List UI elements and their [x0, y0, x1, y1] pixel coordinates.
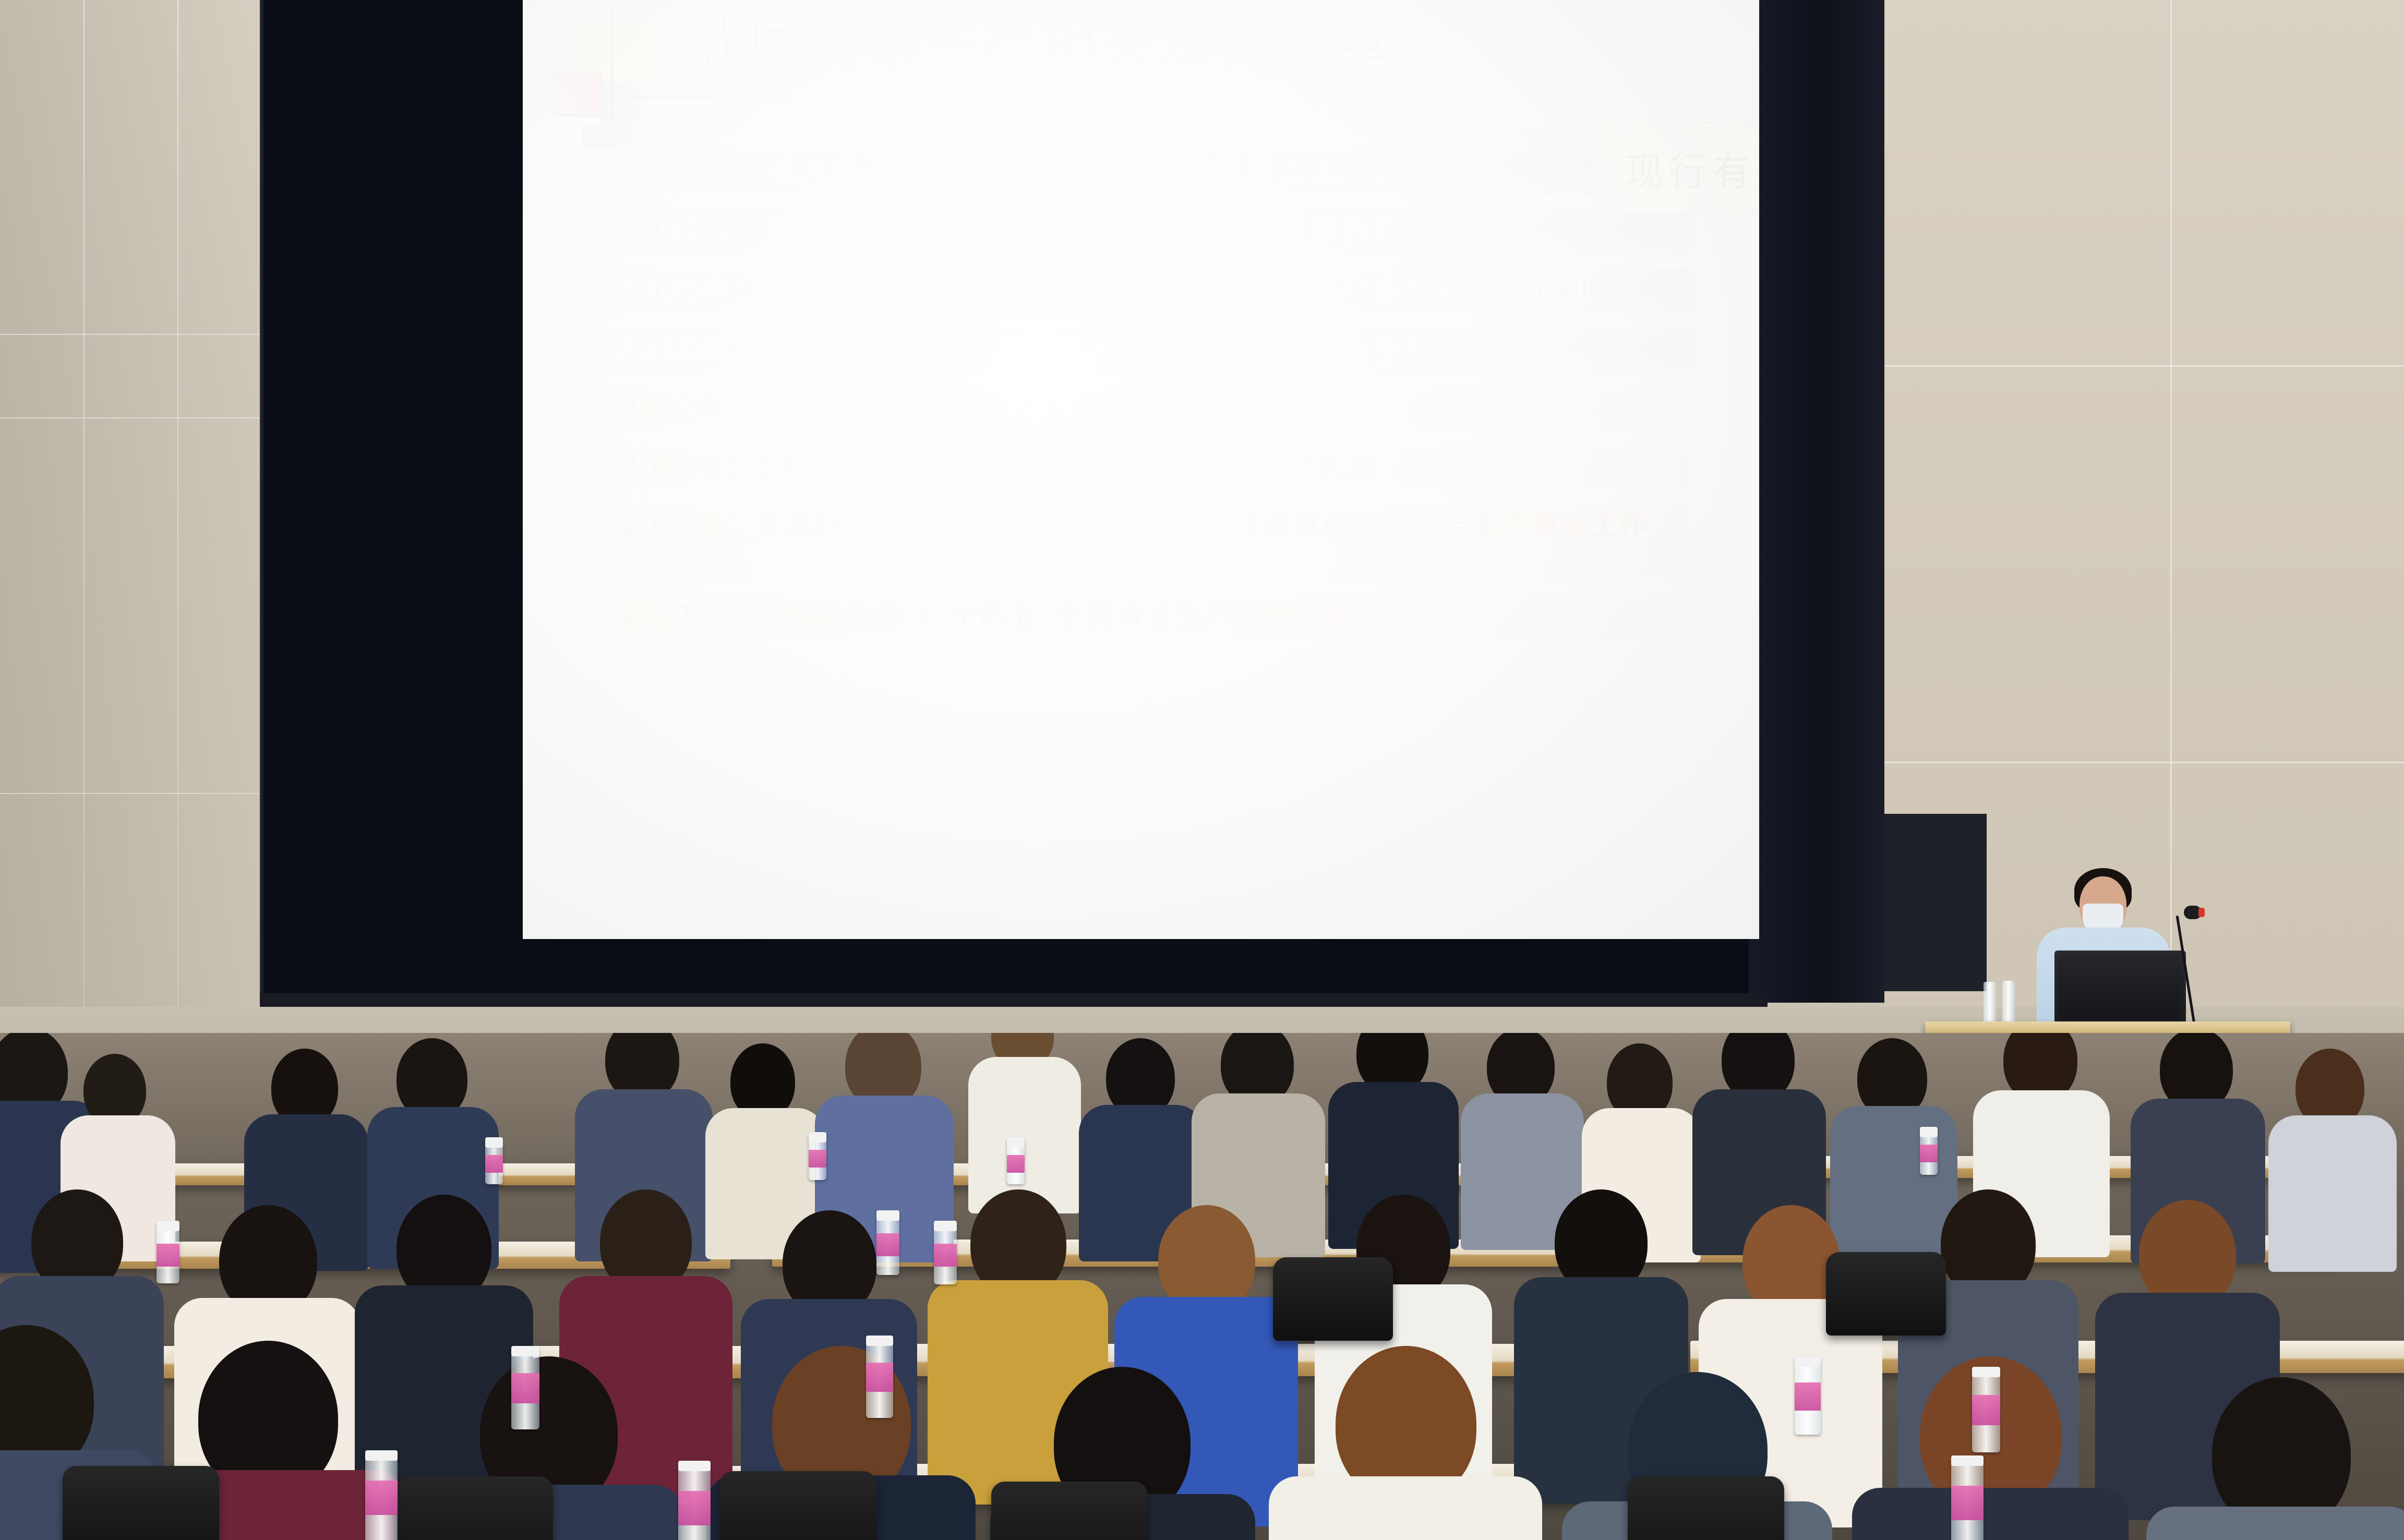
chair	[1273, 1257, 1393, 1341]
wall-grout-line	[1878, 762, 2404, 763]
bottle-cap	[1972, 1367, 2000, 1377]
water-bottle	[866, 1336, 893, 1418]
deco-line-vertical	[611, 9, 612, 150]
presenter-laptop	[2054, 951, 2186, 1021]
bottle-label	[876, 1233, 899, 1256]
bottle-cap	[876, 1210, 899, 1221]
timeline-item: 2005年：原国家环保局《关于印发重点企业清洁生产审核程序的通知》	[596, 267, 1697, 315]
bottle-label	[511, 1373, 539, 1403]
bottle-cap	[1951, 1455, 1984, 1466]
status-badge-label: 现行有效	[1625, 141, 1759, 197]
wall-grout-line	[177, 0, 178, 1064]
water-bottle	[511, 1346, 539, 1429]
wall-shadow-left	[0, 0, 271, 1064]
bottle-label	[1920, 1145, 1938, 1162]
audience-body	[1269, 1476, 1542, 1540]
timeline-item-text: 2004年：国家发改委、原国家环保局《清洁生产审核暂行办法》	[614, 215, 1530, 247]
water-bottle	[1984, 982, 1996, 1025]
timeline-item: 2020年：生态环境部、国家发改委《关于深入推进重点行业清洁生产审核工作的通知》	[603, 501, 1691, 583]
bottle-label	[809, 1150, 826, 1168]
water-bottle	[678, 1461, 711, 1540]
bottle-label	[1972, 1395, 2000, 1425]
chair	[1826, 1252, 1946, 1336]
microphone-accent	[2198, 908, 2205, 917]
chair	[720, 1471, 876, 1540]
water-bottle	[809, 1132, 826, 1180]
bottle-label	[1795, 1382, 1821, 1411]
bottle-cap	[1795, 1356, 1821, 1367]
water-bottle	[876, 1210, 899, 1275]
deco-line-horizontal	[560, 115, 665, 116]
status-badge-current-effective: 现行有效	[1592, 122, 1759, 215]
timeline-item-text: 2010年：原国家环保部《关于深入推进重点企业清洁生产的通知》	[614, 334, 1562, 366]
audience-body	[2268, 1115, 2397, 1272]
bottle-label	[934, 1244, 957, 1267]
bottle-cap	[157, 1221, 179, 1231]
timeline-item-text: 2016年：《清洁生产审核办法》，2016年7月1日正式实施	[620, 450, 1376, 485]
audience-body	[1830, 1106, 1957, 1266]
timeline-item: 2021年：国家发改委《“十四五”全国清洁生产推行方案》	[603, 593, 1691, 641]
chair	[991, 1482, 1148, 1540]
timeline-item-text: 2020年：生态环境部、国家发改委《关于深入推进重点行业清洁生产审核工作的通知》	[620, 509, 1648, 578]
bottle-label	[1951, 1486, 1984, 1520]
slide-deco-logo-icon	[550, 9, 665, 166]
wall-grout-line	[1878, 365, 2404, 367]
bottle-label	[1007, 1155, 1025, 1173]
timeline-item-text: 2005年：原国家环保局《关于印发重点企业清洁生产审核程序的通知》	[614, 275, 1626, 306]
bottle-cap	[934, 1221, 957, 1231]
deco-square-purple-small	[582, 125, 611, 149]
water-bottle	[1972, 1367, 2000, 1452]
timeline-item: 2012年：《中华人民共和国清洁生产促进法》修订	[603, 386, 1691, 434]
chair	[63, 1466, 219, 1540]
bottle-cap	[1007, 1137, 1025, 1148]
water-bottle	[157, 1221, 179, 1283]
water-bottle	[365, 1450, 398, 1540]
water-bottle	[934, 1221, 957, 1284]
timeline-item: 2010年：原国家环保部《关于深入推进重点企业清洁生产的通知》	[596, 326, 1697, 374]
deco-square-pink	[540, 71, 602, 117]
bottle-label	[866, 1363, 893, 1392]
water-bottle	[1795, 1356, 1821, 1435]
water-bottle	[1951, 1455, 1984, 1540]
audience-body	[1852, 1488, 2129, 1540]
bottle-label	[157, 1244, 179, 1267]
bottle-cap	[485, 1137, 503, 1148]
bottle-label	[678, 1491, 711, 1525]
wall-grout-line	[83, 0, 85, 1064]
screen-edge-highlight	[260, 0, 265, 1003]
timeline-item-text: 2002年：第九届人大通过《中华人民共和国清洁生产促进法》	[614, 156, 1498, 187]
slide-title: 我国清洁生产相关法律沿革	[690, 15, 1391, 77]
bottle-cap	[866, 1336, 893, 1346]
bottle-label	[365, 1481, 398, 1515]
timeline-item: 2016年：《清洁生产审核办法》，2016年7月1日正式实施	[603, 443, 1691, 491]
water-bottle	[1920, 1127, 1938, 1175]
water-bottle	[485, 1137, 503, 1184]
bottle-cap	[678, 1461, 711, 1471]
bottle-label	[485, 1155, 503, 1173]
timeline-item-text: 2021年：国家发改委《“十四五”全国清洁生产推行方案》	[620, 599, 1382, 634]
chair	[396, 1476, 553, 1540]
audience-area	[0, 1033, 2404, 1540]
screen-right-dark-band	[1749, 0, 1884, 1003]
screenshot-scene: 我国清洁生产相关法律沿革 2002年：第九届人大通过《中华人民共和国清洁生产促进…	[0, 0, 2404, 1540]
bottle-cap	[511, 1346, 539, 1356]
title-underline	[625, 96, 1439, 98]
bottle-cap	[365, 1450, 398, 1461]
water-bottle	[1007, 1137, 1025, 1184]
bottle-cap	[1920, 1127, 1938, 1137]
projected-slide: 我国清洁生产相关法律沿革 2002年：第九届人大通过《中华人民共和国清洁生产促进…	[523, 0, 1759, 939]
chair	[1628, 1476, 1784, 1540]
bottle-cap	[809, 1132, 826, 1142]
timeline-item: 2002年：第九届人大通过《中华人民共和国清洁生产促进法》	[596, 148, 1697, 196]
timeline-item-text: 2012年：《中华人民共和国清洁生产促进法》修订	[620, 392, 1277, 428]
timeline-group-revised: 2012年：《中华人民共和国清洁生产促进法》修订 2016年：《清洁生产审核办法…	[603, 386, 1691, 650]
timeline-group-current: 2002年：第九届人大通过《中华人民共和国清洁生产促进法》 2004年：国家发改…	[596, 148, 1697, 386]
audience-body	[2146, 1507, 2404, 1540]
water-bottle	[2002, 981, 2015, 1025]
timeline-item: 2004年：国家发改委、原国家环保局《清洁生产审核暂行办法》	[596, 207, 1697, 255]
